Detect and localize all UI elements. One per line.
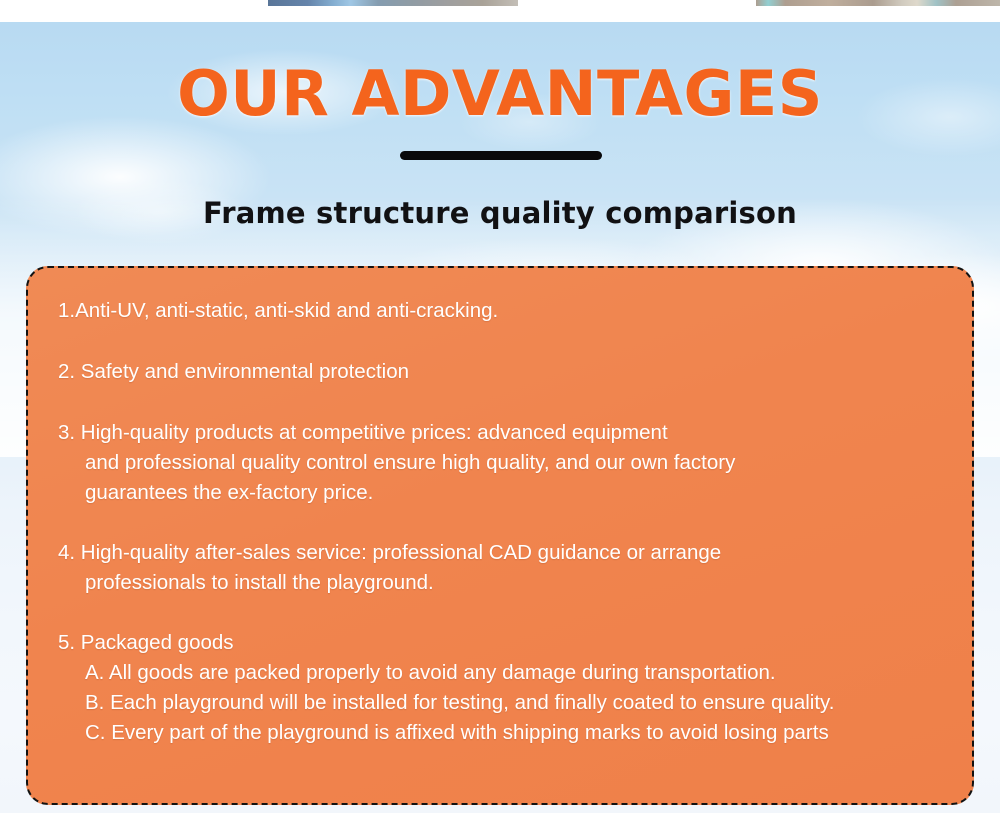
advantage-line: 4. High-quality after-sales service: pro… bbox=[58, 538, 942, 568]
advantage-line: C. Every part of the playground is affix… bbox=[58, 718, 942, 748]
advantage-line: A. All goods are packed properly to avoi… bbox=[58, 658, 942, 688]
advantage-line: professionals to install the playground. bbox=[58, 568, 942, 598]
advantage-line: 3. High-quality products at competitive … bbox=[58, 418, 942, 448]
advantage-line: 5. Packaged goods bbox=[58, 628, 942, 658]
cropped-image-fragment-left bbox=[268, 0, 518, 6]
top-image-strip bbox=[0, 0, 1000, 22]
advantage-line: B. Each playground will be installed for… bbox=[58, 688, 942, 718]
advantages-panel: 1.Anti-UV, anti-static, anti-skid and an… bbox=[26, 266, 974, 805]
advantage-line: 1.Anti-UV, anti-static, anti-skid and an… bbox=[58, 296, 942, 326]
advantage-item: 5. Packaged goodsA. All goods are packed… bbox=[58, 628, 942, 748]
cropped-image-fragment-right bbox=[756, 0, 1000, 6]
title-divider-bar bbox=[400, 151, 602, 160]
advantage-item: 4. High-quality after-sales service: pro… bbox=[58, 538, 942, 598]
advantages-page: OUR ADVANTAGES Frame structure quality c… bbox=[0, 0, 1000, 813]
advantage-item: 3. High-quality products at competitive … bbox=[58, 418, 942, 508]
advantage-item: 2. Safety and environmental protection bbox=[58, 357, 942, 387]
advantages-list: 1.Anti-UV, anti-static, anti-skid and an… bbox=[58, 296, 942, 748]
advantage-line: and professional quality control ensure … bbox=[58, 448, 942, 478]
advantage-line: 2. Safety and environmental protection bbox=[58, 357, 942, 387]
advantage-line: guarantees the ex-factory price. bbox=[58, 478, 942, 508]
page-subtitle: Frame structure quality comparison bbox=[0, 194, 1000, 232]
advantage-item: 1.Anti-UV, anti-static, anti-skid and an… bbox=[58, 296, 942, 326]
page-title: OUR ADVANTAGES bbox=[0, 57, 1000, 131]
